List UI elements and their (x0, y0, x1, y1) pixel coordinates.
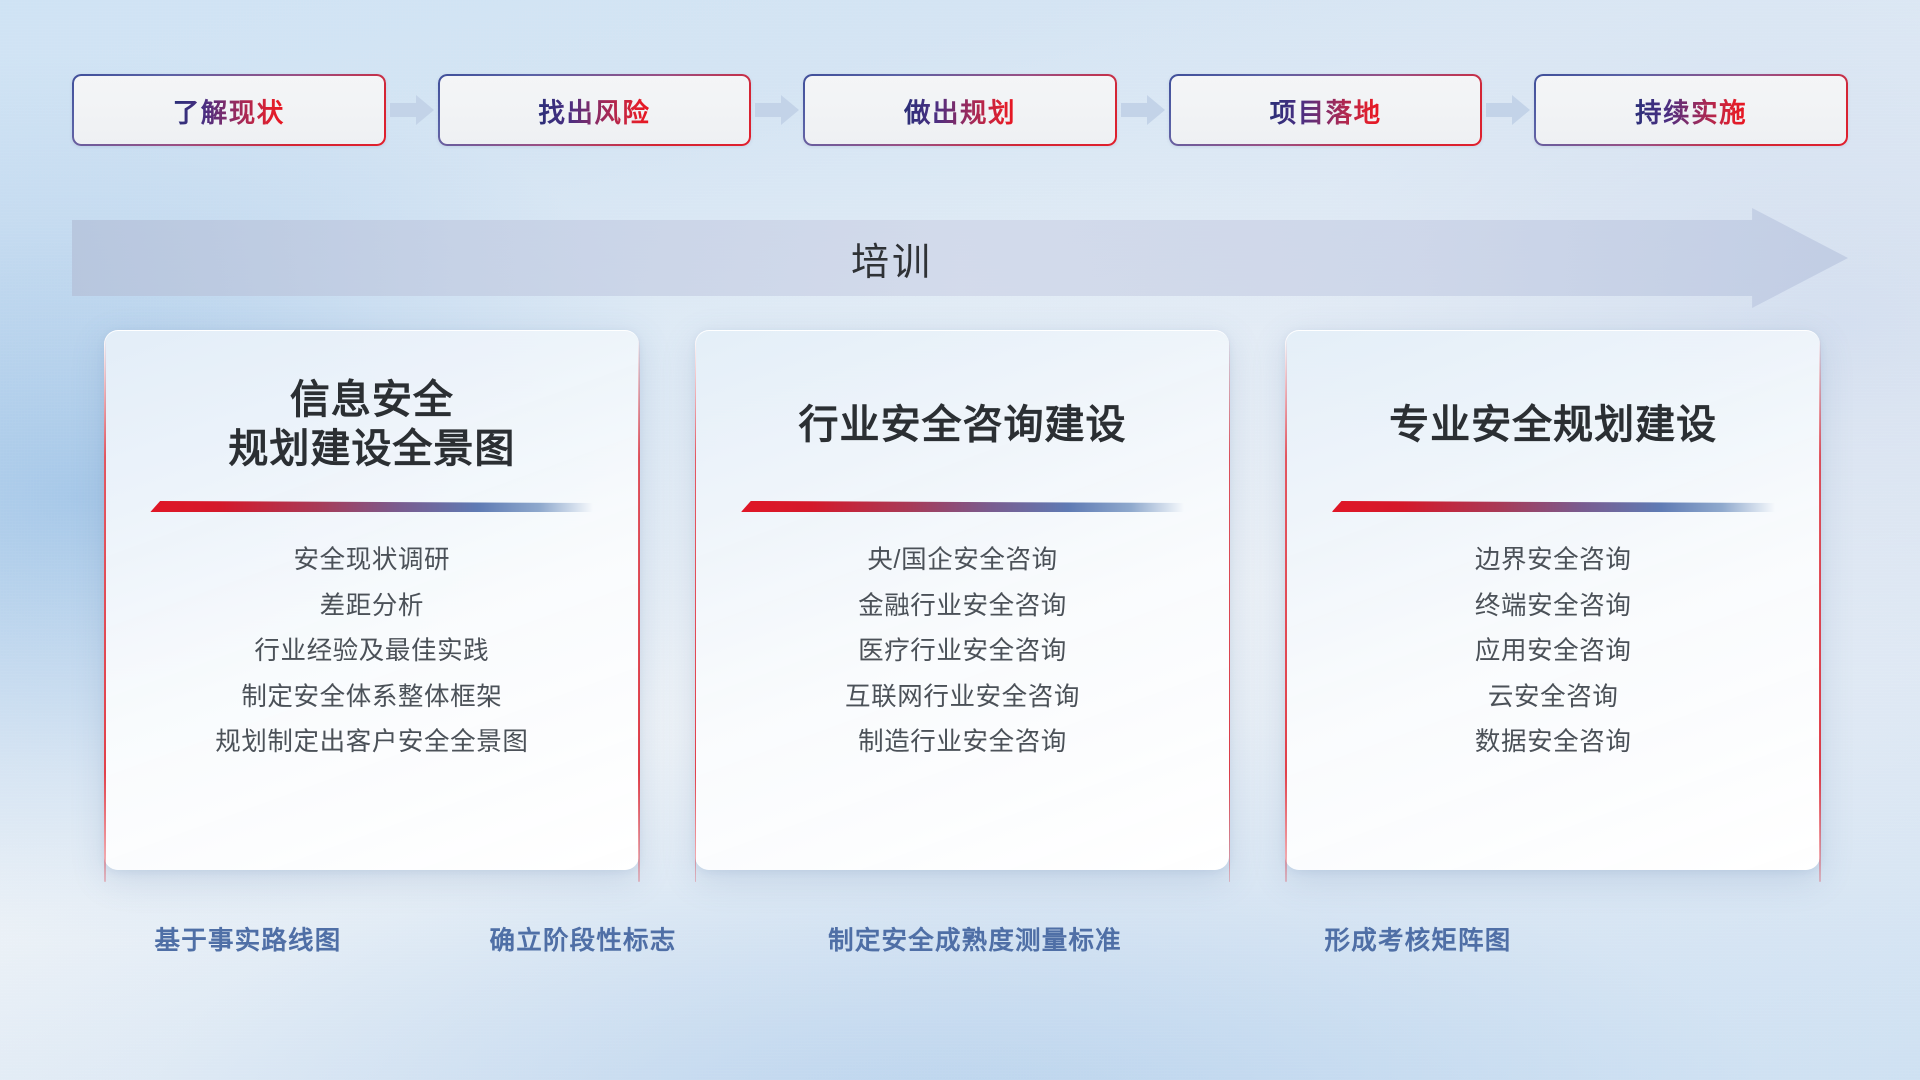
step-box-5[interactable]: 持续实施 (1534, 74, 1848, 146)
card-2-list: 央/国企安全咨询 金融行业安全咨询 医疗行业安全咨询 互联网行业安全咨询 制造行… (696, 538, 1230, 766)
banner-label: 培训 (72, 208, 1712, 308)
step-label-2: 找出风险 (538, 91, 650, 130)
list-item: 云安全咨询 (1286, 675, 1820, 721)
card-2-divider (741, 501, 1184, 512)
step-box-1[interactable]: 了解现状 (72, 74, 386, 146)
list-item: 应用安全咨询 (1286, 629, 1820, 675)
footer-label-row: 基于事实路线图 确立阶段性标志 制定安全成熟度测量标准 形成考核矩阵图 (0, 920, 1920, 970)
slide-canvas: 了解现状 找出风险 做出规划 项目落地 (0, 0, 1920, 1080)
step-box-4[interactable]: 项目落地 (1169, 74, 1483, 146)
card-3-divider (1332, 501, 1775, 512)
footer-label-3: 制定安全成熟度测量标准 (828, 920, 1122, 957)
step-label-5: 持续实施 (1635, 91, 1747, 130)
card-2-title: 行业安全咨询建设 (799, 373, 1127, 477)
step-arrow-icon-4 (1482, 93, 1534, 127)
step-box-2[interactable]: 找出风险 (438, 74, 752, 146)
list-item: 医疗行业安全咨询 (696, 629, 1230, 675)
step-label-3: 做出规划 (904, 91, 1016, 130)
card-3-title: 专业安全规划建设 (1389, 373, 1717, 477)
step-label-1: 了解现状 (173, 91, 285, 130)
list-item: 金融行业安全咨询 (696, 584, 1230, 630)
list-item: 行业经验及最佳实践 (105, 629, 639, 675)
card-2[interactable]: 行业安全咨询建设 央/国企安全咨询 金融行业安全咨询 医疗行业安全咨询 互联网行… (695, 330, 1230, 870)
process-step-row: 了解现状 找出风险 做出规划 项目落地 (72, 74, 1848, 146)
card-3-list: 边界安全咨询 终端安全咨询 应用安全咨询 云安全咨询 数据安全咨询 (1286, 538, 1820, 766)
step-arrow-icon-2 (751, 93, 803, 127)
step-box-3[interactable]: 做出规划 (803, 74, 1117, 146)
list-item: 安全现状调研 (105, 538, 639, 584)
card-1-list: 安全现状调研 差距分析 行业经验及最佳实践 制定安全体系整体框架 规划制定出客户… (105, 538, 639, 766)
list-item: 央/国企安全咨询 (696, 538, 1230, 584)
step-label-4: 项目落地 (1270, 91, 1382, 130)
card-row: 信息安全 规划建设全景图 安全现状调研 差距分析 行业经验及最佳实践 制定安全体… (104, 330, 1820, 870)
list-item: 互联网行业安全咨询 (696, 675, 1230, 721)
list-item: 边界安全咨询 (1286, 538, 1820, 584)
list-item: 制定安全体系整体框架 (105, 675, 639, 721)
footer-label-1: 基于事实路线图 (155, 920, 342, 957)
list-item: 终端安全咨询 (1286, 584, 1820, 630)
card-1[interactable]: 信息安全 规划建设全景图 安全现状调研 差距分析 行业经验及最佳实践 制定安全体… (104, 330, 639, 870)
step-arrow-icon-1 (386, 93, 438, 127)
training-banner: 培训 (72, 208, 1848, 308)
footer-label-4: 形成考核矩阵图 (1325, 920, 1512, 957)
step-arrow-icon-3 (1117, 93, 1169, 127)
list-item: 规划制定出客户安全全景图 (105, 720, 639, 766)
card-3[interactable]: 专业安全规划建设 边界安全咨询 终端安全咨询 应用安全咨询 云安全咨询 数据安全… (1285, 330, 1820, 870)
list-item: 差距分析 (105, 584, 639, 630)
list-item: 制造行业安全咨询 (696, 720, 1230, 766)
card-1-title: 信息安全 规划建设全景图 (228, 373, 515, 477)
list-item: 数据安全咨询 (1286, 720, 1820, 766)
footer-label-2: 确立阶段性标志 (490, 920, 677, 957)
card-1-divider (150, 501, 593, 512)
